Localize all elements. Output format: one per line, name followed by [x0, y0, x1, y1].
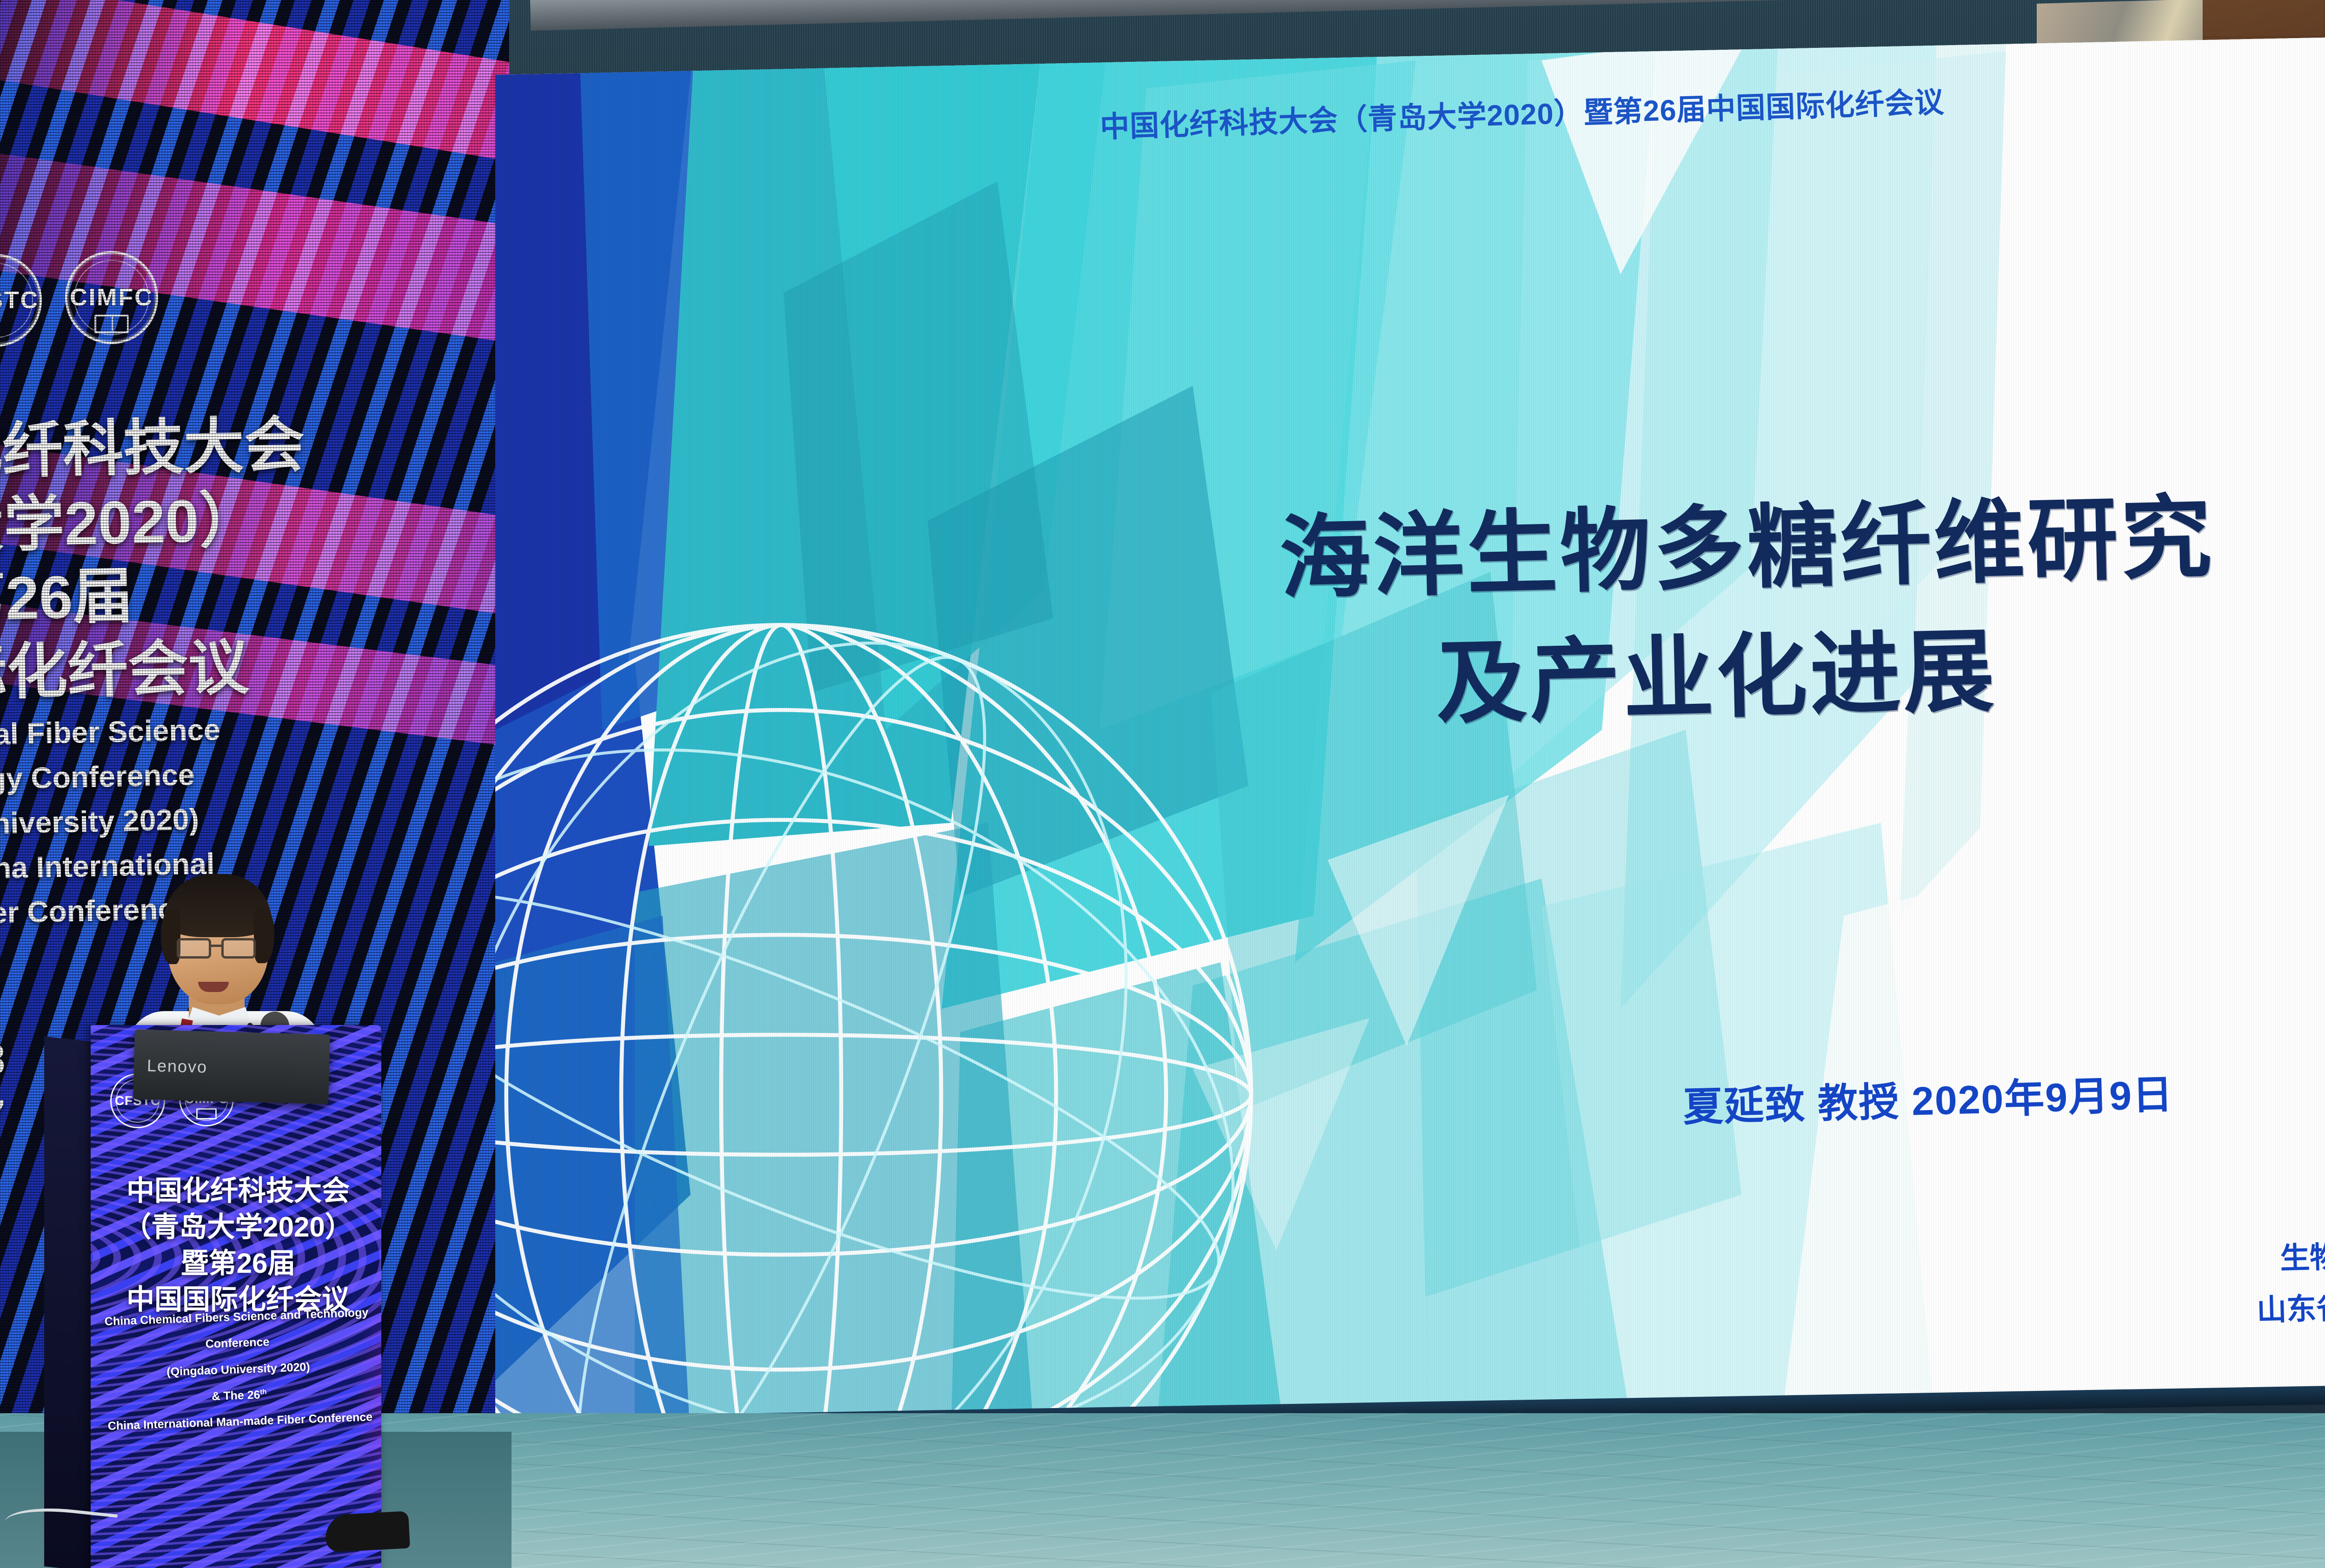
podium-en-line-1: China Chemical Fibers Science and Techno… — [93, 1299, 381, 1361]
podium-cn-line-1: 中国化纤科技大会 — [96, 1173, 380, 1209]
speaker-hair-right — [254, 906, 274, 963]
laptop-on-podium[interactable]: Lenovo — [133, 1030, 330, 1105]
podium-lectern: CFSTC CIMFC 中国化纤科技大会 （青岛大学2020） 暨第26届 中国… — [44, 1025, 384, 1568]
banner-cn-line-2: 大学2020） — [0, 476, 509, 563]
slide-title-line-2: 及产业化进展 — [1281, 592, 2325, 752]
podium-cn-line-2: （青岛大学2020） — [96, 1209, 380, 1245]
ordinal-suffix: th — [260, 1388, 267, 1396]
presenter-affiliations: 青岛大学海洋纤维新材料研究院 青岛源海新材料科技有限公司 生物多糖纤维成形与生态… — [1684, 1119, 2325, 1350]
glasses-left-lens — [177, 938, 211, 959]
presentation-stage-scene: CFSTC CIMFC 化纤科技大会 大学2020） 第26届 际化纤会议 mi… — [0, 0, 2325, 1568]
banner-cn-line-4: 际化纤会议 — [0, 624, 509, 710]
glasses-bridge — [211, 945, 222, 947]
slide-main-title: 海洋生物多糖纤维研究 及产业化进展 — [1278, 463, 2325, 752]
presenter-block: 夏延致 教授 2020年9月9日 青岛大学海洋纤维新材料研究院 青岛源海新材料科… — [1682, 1045, 2325, 1352]
banner-chinese-title: 化纤科技大会 大学2020） 第26届 际化纤会议 — [0, 403, 509, 710]
podium-chinese-title: 中国化纤科技大会 （青岛大学2020） 暨第26届 中国国际化纤会议 — [96, 1173, 380, 1318]
globe-wireframe-graphic — [495, 595, 1281, 1443]
seal-ring — [0, 263, 33, 338]
slide-title-line-1: 海洋生物多糖纤维研究 — [1279, 487, 2215, 609]
presentation-screen: 中国化纤科技大会（青岛大学2020）暨第26届中国国际化纤会议 青岛大学 190… — [495, 33, 2325, 1443]
podium-cn-line-3: 暨第26届 — [96, 1245, 380, 1282]
book-icon — [94, 315, 129, 333]
glasses-right-lens — [221, 938, 256, 959]
laptop-brand-label: Lenovo — [146, 1056, 207, 1077]
cfstc-seal-icon: CFSTC — [0, 254, 42, 347]
podium-side-panel — [44, 1036, 93, 1568]
cimfc-seal-icon: CIMFC — [65, 251, 158, 344]
book-icon — [196, 1108, 217, 1119]
banner-logo-group: CFSTC CIMFC — [0, 251, 274, 358]
banner-cn-line-1: 化纤科技大会 — [0, 403, 509, 489]
podium-en-line-3-text: & The 26 — [212, 1388, 260, 1403]
banner-cn-line-3: 第26届 — [0, 550, 509, 637]
podium-english-title: China Chemical Fibers Science and Techno… — [93, 1299, 383, 1440]
speaker-shoe — [325, 1511, 410, 1552]
